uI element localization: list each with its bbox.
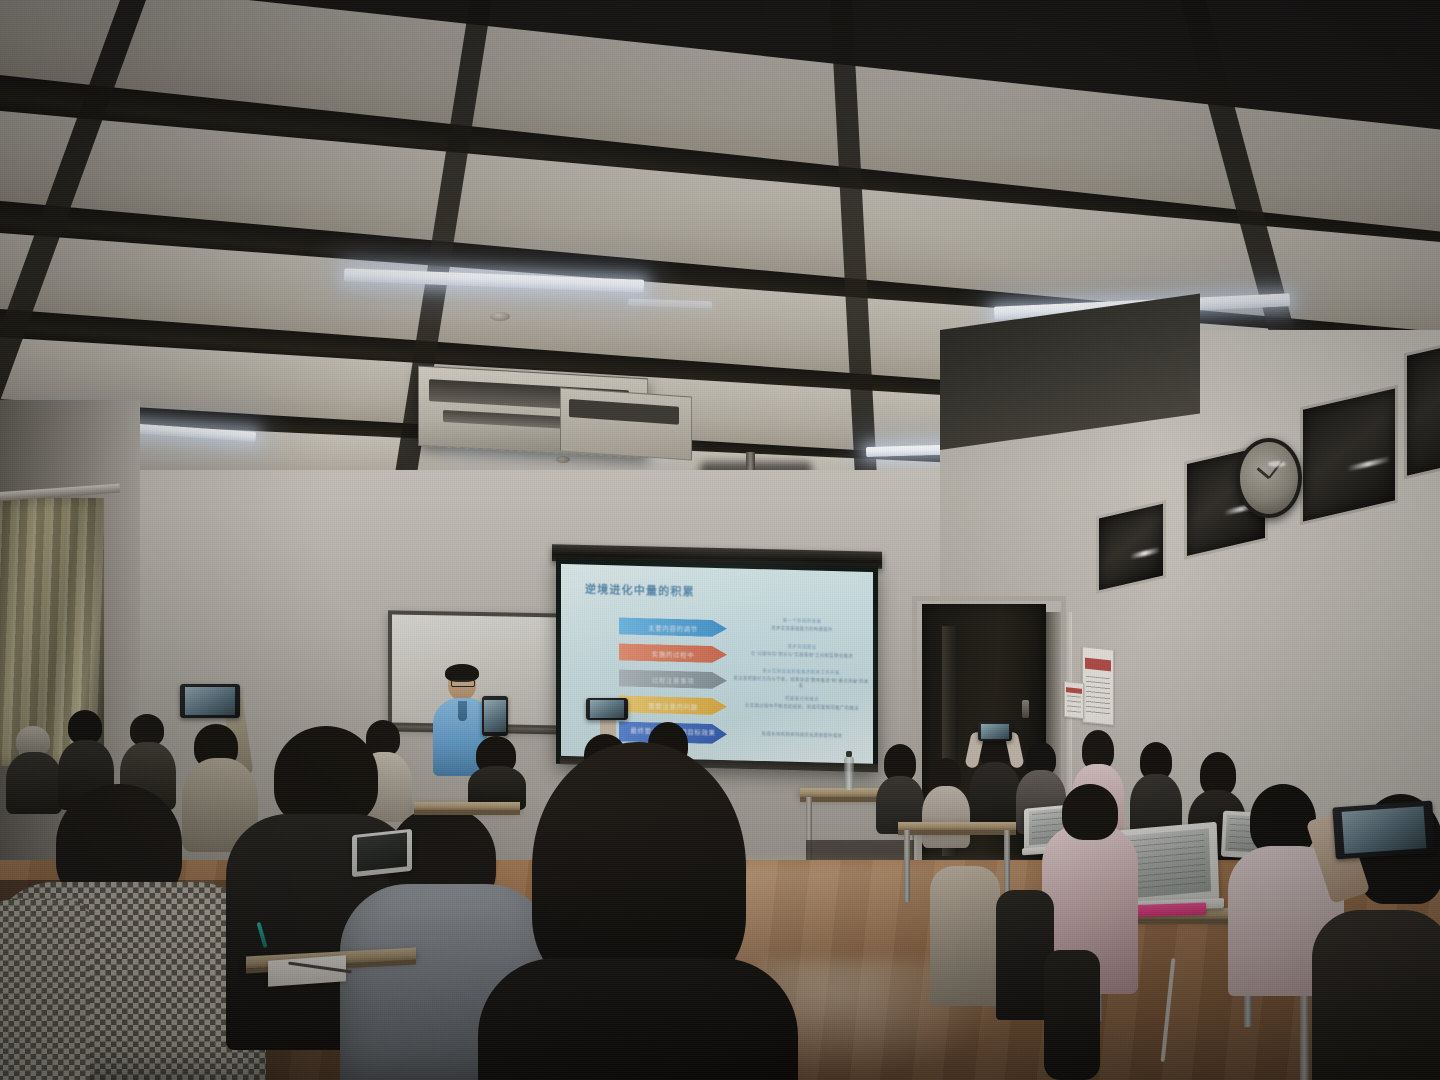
- hair: [274, 726, 378, 826]
- slide-chevron-label: 实施的过程中: [652, 648, 695, 659]
- slide-row-note: 第一个阶段的发展 逐步实现基础能力的构建提升: [743, 617, 861, 634]
- torso: [1312, 910, 1440, 1080]
- slide-note-line2: 要注意把握好方向与节奏，统筹协调“整体推进”和“重点突破”的关系: [733, 675, 869, 691]
- smoke-detector-icon: [490, 312, 510, 321]
- slide-chevron-3: 过程注意事项: [619, 669, 727, 689]
- phone-screen: [981, 724, 1009, 739]
- slide-chevron-label: 过程注意事项: [652, 674, 695, 685]
- bottle-cap: [846, 751, 852, 757]
- slide-note-line2: 形成长效机制并持续优化改进提升成效: [743, 731, 861, 740]
- notice-red-bar: [1066, 687, 1081, 693]
- smartphone[interactable]: [978, 722, 1012, 741]
- right-window: [1300, 385, 1398, 526]
- analog-wall-clock-icon: [1236, 438, 1302, 518]
- torso-tweed-coat: [0, 900, 90, 1080]
- desk-leg: [904, 830, 910, 902]
- slide-note-line2: 在实践过程中不断总结经验，形成可复制可推广的做法: [743, 703, 861, 712]
- window-glint: [1130, 548, 1159, 560]
- wall-notice: [1082, 646, 1114, 725]
- notice-text-lines: [1086, 676, 1110, 717]
- chair-back: [1044, 950, 1100, 1080]
- clock-glare: [1268, 461, 1286, 467]
- audience-member: [8, 726, 60, 810]
- laptop[interactable]: [352, 829, 412, 877]
- slide-row-note: 把握重点和难点 在实践过程中不断总结经验，形成可复制可推广的做法: [743, 695, 861, 712]
- phone-screen: [590, 700, 624, 718]
- audience-member: [0, 900, 90, 1080]
- coat-on-chair: [930, 866, 1000, 1006]
- audience-member: [478, 742, 798, 1080]
- torso: [478, 958, 798, 1080]
- laptop-screen: [357, 833, 407, 872]
- smartphone[interactable]: [586, 698, 628, 720]
- phone-screen: [1342, 806, 1427, 853]
- torso: [970, 762, 1020, 824]
- water-bottle: [844, 756, 854, 790]
- desk-edge: [414, 810, 520, 815]
- right-window: [1404, 339, 1440, 480]
- hair: [532, 742, 746, 992]
- smartphone[interactable]: [482, 696, 508, 736]
- audience-member: [876, 744, 922, 828]
- hair: [1062, 784, 1118, 840]
- hair: [68, 710, 102, 744]
- slide-note-line2: 在“问题导向”理论与“实践落地”之间相互转化推进: [743, 651, 861, 660]
- smoke-detector-icon: [556, 456, 570, 463]
- student-desk: [414, 802, 520, 810]
- laptop-screen-content: [1130, 834, 1206, 893]
- desk-edge: [898, 830, 1016, 835]
- slide-chevron-2: 实施的过程中: [619, 643, 727, 663]
- slide-chevron-4: 需要注意的问题: [619, 695, 727, 715]
- student-desk: [898, 822, 1016, 830]
- smartphone[interactable]: [180, 684, 240, 718]
- ac-vent: [569, 399, 679, 425]
- slide-chevron-1: 主要内容的调节: [619, 617, 727, 637]
- ceiling-ac-unit: [560, 387, 692, 460]
- presenter-collar: [458, 701, 467, 721]
- lecture-hall-photo: 逆境进化中量的积累 主要内容的调节 第一个阶段的发展 逐步实现基础能力的构建提升…: [0, 0, 1440, 1080]
- slide-title: 逆境进化中量的积累: [585, 581, 695, 600]
- audience-member-photographing: [1318, 760, 1440, 1080]
- slide-note-line2: 逐步实现基础能力的构建提升: [743, 625, 861, 634]
- phone-screen: [484, 700, 505, 732]
- right-window: [1096, 500, 1166, 594]
- phone-screen: [185, 687, 234, 714]
- slide-row-note: 逐步完成建设 在“问题导向”理论与“实践落地”之间相互转化推进: [743, 643, 861, 660]
- smartphone[interactable]: [1332, 801, 1435, 860]
- torso: [922, 786, 970, 848]
- window-glint: [1347, 457, 1389, 472]
- torso: [6, 752, 62, 814]
- slide-row-note: 要从实际出发积极推进相关工作开展 要注意把握好方向与节奏，统筹协调“整体推进”和…: [733, 667, 869, 691]
- notice-red-bar: [1085, 658, 1110, 671]
- slide-chevron-label: 需要注意的问题: [648, 700, 698, 711]
- audience-member: [972, 726, 1018, 822]
- slide-chevron-label: 主要内容的调节: [648, 622, 698, 633]
- wall-notice: [1064, 681, 1084, 719]
- notice-text-lines: [1067, 695, 1081, 714]
- slide-row-note: 形成长效机制并持续优化改进提升成效: [743, 729, 861, 740]
- presenter-glasses-icon: [451, 680, 475, 687]
